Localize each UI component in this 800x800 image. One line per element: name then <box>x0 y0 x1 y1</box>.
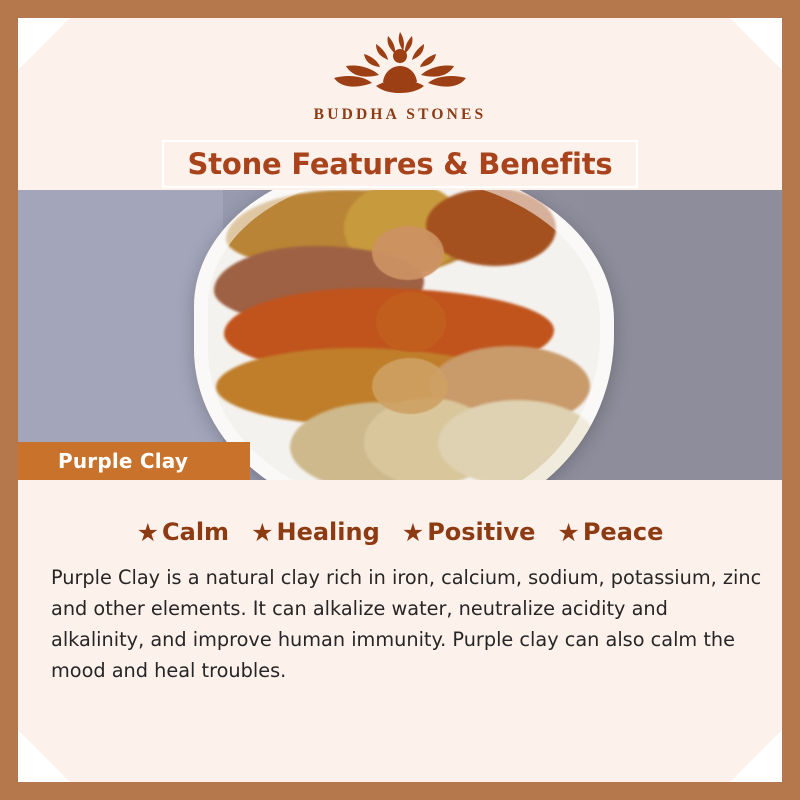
stone-name-label: Purple Clay <box>18 449 188 473</box>
photo-right-background <box>592 190 782 498</box>
corner-ornament-bottom-right <box>730 730 782 782</box>
corner-ornament-top-left <box>18 18 70 70</box>
star-icon: ★ <box>251 520 273 545</box>
benefit-label: Positive <box>427 518 535 546</box>
brand-header: BUDDHA STONES <box>18 18 782 136</box>
star-icon: ★ <box>557 520 579 545</box>
corner-ornament-bottom-left <box>18 730 70 782</box>
wet-clay-blob <box>372 358 448 414</box>
benefit-item: ★ Positive <box>402 518 536 546</box>
title-band: Stone Features & Benefits <box>18 140 782 190</box>
benefit-label: Calm <box>162 518 229 546</box>
star-icon: ★ <box>137 520 159 545</box>
title-box: Stone Features & Benefits <box>162 140 638 188</box>
benefit-label: Healing <box>276 518 379 546</box>
wet-clay-blob <box>376 292 446 352</box>
wet-clay-blob <box>372 226 444 280</box>
page-title: Stone Features & Benefits <box>188 147 613 181</box>
brand-name: BUDDHA STONES <box>314 106 487 124</box>
benefit-label: Peace <box>583 518 664 546</box>
description-text: Purple Clay is a natural clay rich in ir… <box>51 562 767 686</box>
benefit-item: ★ Calm <box>137 518 229 546</box>
benefit-item: ★ Healing <box>251 518 380 546</box>
clay-powder-heap <box>438 400 598 486</box>
lotus-meditation-figure-icon <box>326 26 474 104</box>
benefits-row: ★ Calm ★ Healing ★ Positive ★ Peace <box>18 518 782 546</box>
star-icon: ★ <box>402 520 424 545</box>
benefit-item: ★ Peace <box>557 518 663 546</box>
stone-name-tag: Purple Clay <box>18 442 250 480</box>
corner-ornament-top-right <box>730 18 782 70</box>
poster-inner-frame: BUDDHA STONES Stone Features & Benefits <box>18 18 782 782</box>
details-panel: ★ Calm ★ Healing ★ Positive ★ Peace Purp… <box>18 480 782 782</box>
ceramic-plate <box>194 190 614 498</box>
poster: BUDDHA STONES Stone Features & Benefits <box>0 0 800 800</box>
